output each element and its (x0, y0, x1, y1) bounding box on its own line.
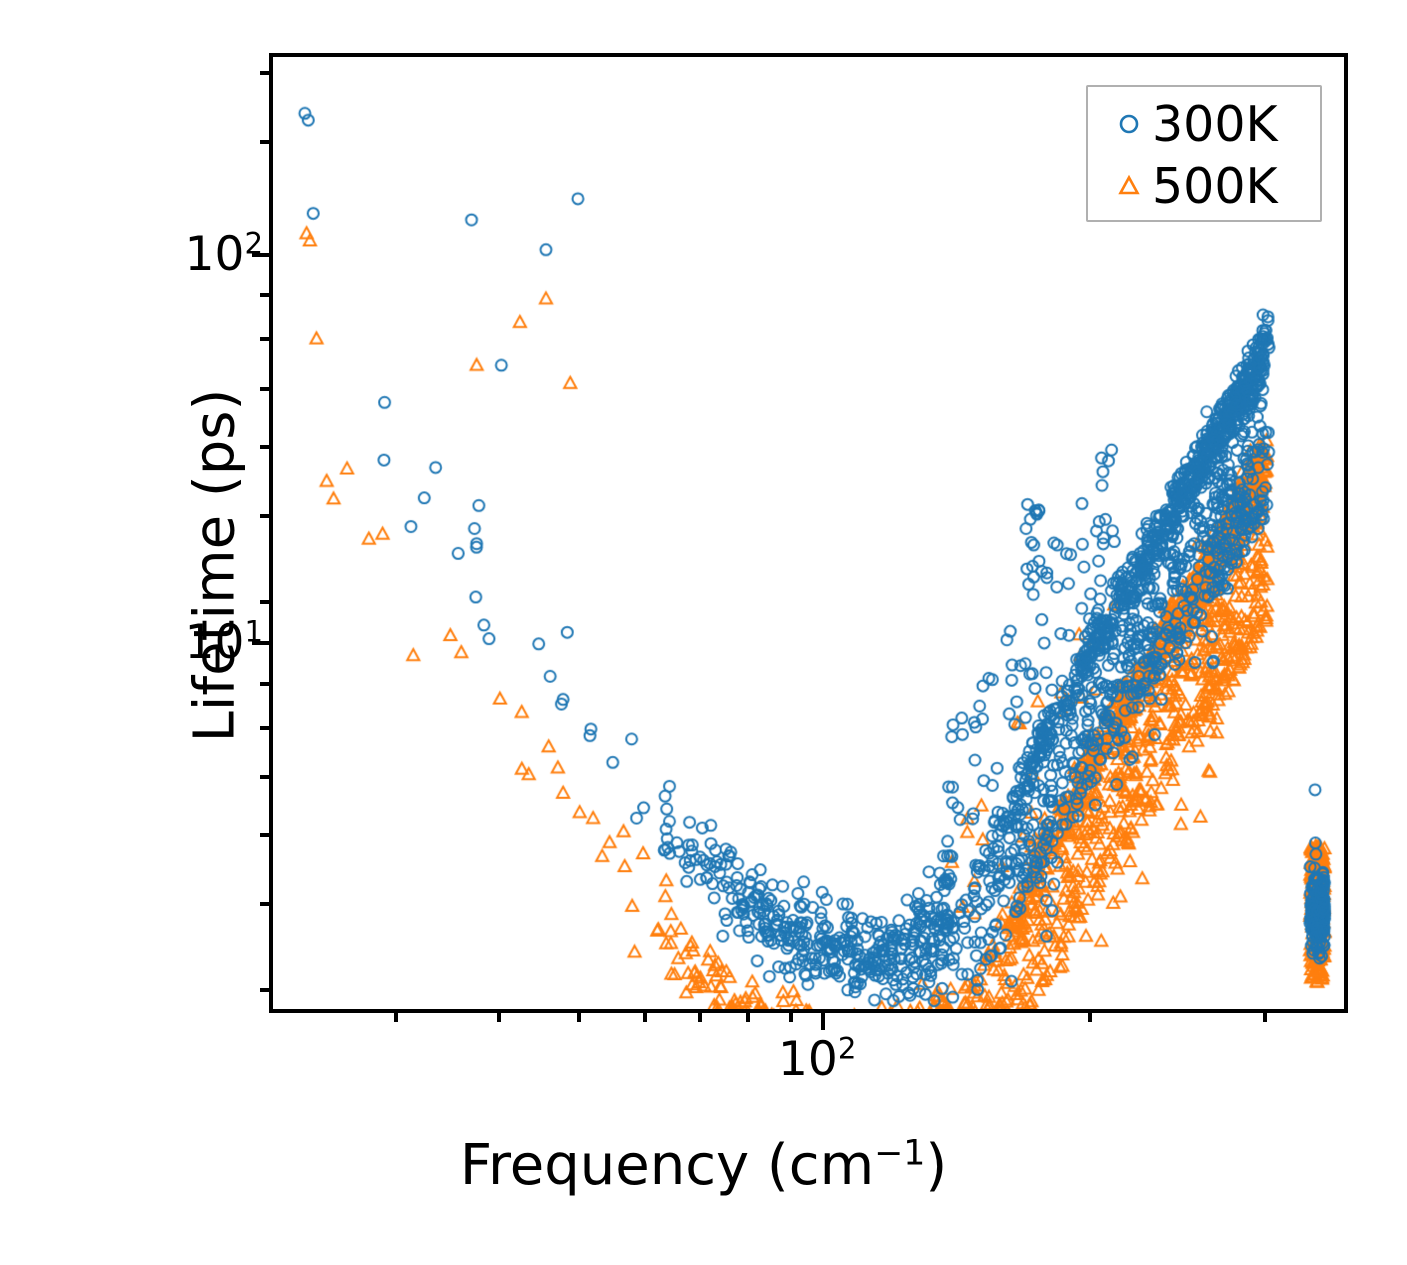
x-ticklabel-100: 102 (778, 1036, 856, 1083)
legend[interactable]: 300K 500K (1086, 85, 1322, 222)
legend-label-300K: 300K (1152, 100, 1278, 149)
legend-label-500K: 500K (1152, 162, 1278, 211)
triangle-up-open-icon (1106, 173, 1152, 199)
figure: Lifetime (ps) 102 101 102 Frequency (cm−… (0, 0, 1407, 1265)
x-axis-label: Frequency (cm−1) (0, 1133, 1407, 1198)
legend-item-500K[interactable]: 500K (1088, 155, 1320, 217)
legend-item-300K[interactable]: 300K (1088, 93, 1320, 155)
circle-open-icon (1106, 111, 1152, 137)
